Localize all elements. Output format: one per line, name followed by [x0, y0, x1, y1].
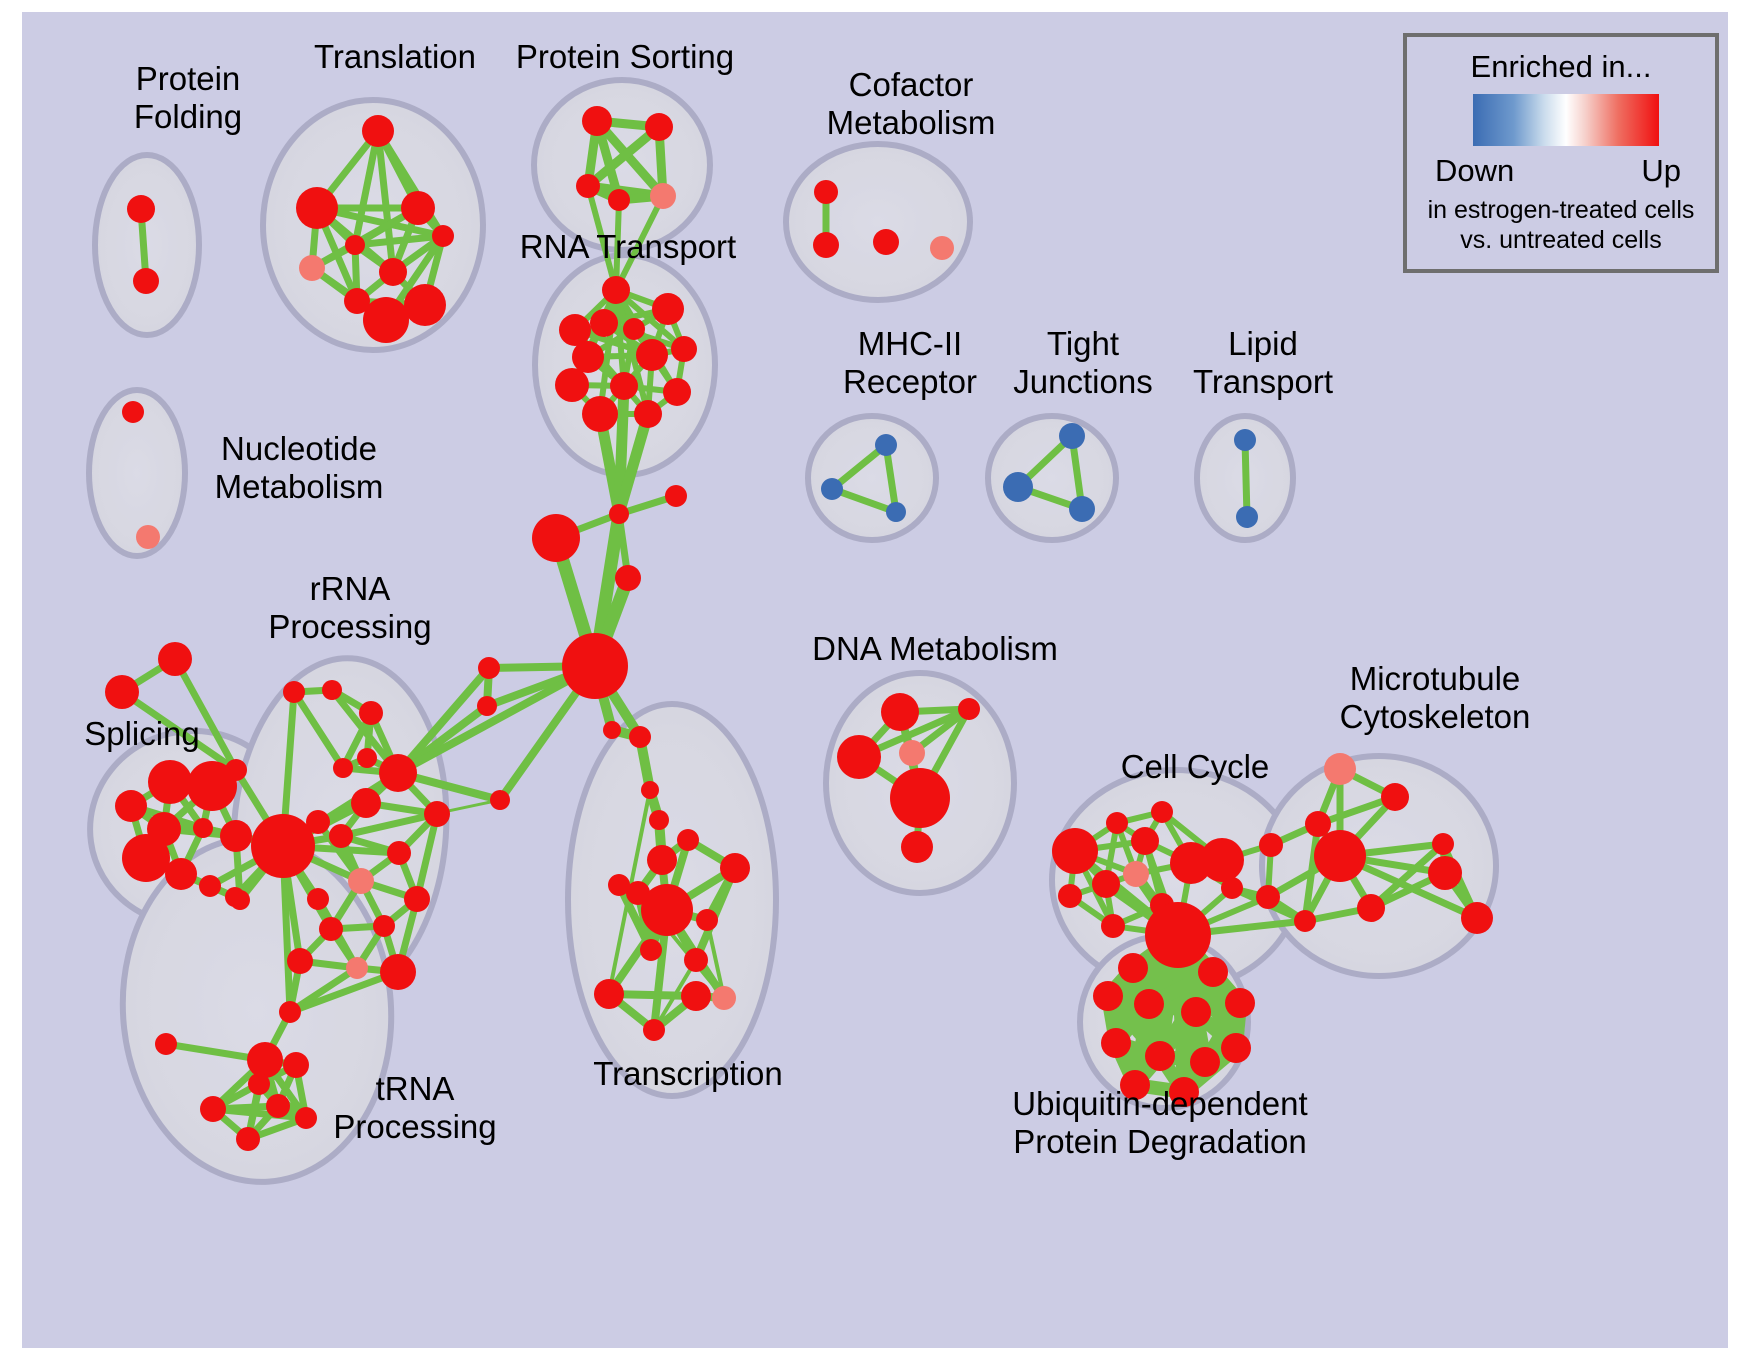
cluster-label-cell-cycle: Cell Cycle — [1090, 748, 1300, 786]
figure-canvas: Protein Folding Translation Protein Sort… — [0, 0, 1750, 1360]
cluster-label-lipid-transport: Lipid Transport — [1158, 325, 1368, 401]
legend-color-gradient-bar — [1473, 94, 1659, 146]
cluster-label-trna-processing: tRNA Processing — [300, 1070, 530, 1146]
legend-subtitle: in estrogen-treated cells vs. untreated … — [1407, 195, 1715, 255]
cluster-label-transcription: Transcription — [568, 1055, 808, 1093]
legend-box: Enriched in... Down Up in estrogen-treat… — [1403, 33, 1719, 273]
cluster-label-splicing: Splicing — [52, 715, 232, 753]
legend-low-label: Down — [1435, 153, 1514, 189]
legend-title: Enriched in... — [1407, 49, 1715, 85]
hull-mhc — [808, 416, 936, 540]
hull-cofactor — [786, 144, 970, 300]
cluster-label-protein-sorting: Protein Sorting — [505, 38, 745, 76]
cluster-label-dna-metabolism: DNA Metabolism — [800, 630, 1070, 668]
cluster-label-rna-transport: RNA Transport — [508, 228, 748, 266]
cluster-label-tight-junctions: Tight Junctions — [978, 325, 1188, 401]
legend-high-label: Up — [1641, 153, 1681, 189]
cluster-label-translation: Translation — [285, 38, 505, 76]
cluster-label-nucleotide-metabolism: Nucleotide Metabolism — [184, 430, 414, 506]
cluster-label-ubiquitin-protein-degradation: Ubiquitin-dependent Protein Degradation — [980, 1085, 1340, 1161]
hull-protein-sorting — [534, 80, 710, 250]
cluster-label-protein-folding: Protein Folding — [78, 60, 298, 136]
cluster-label-rrna-processing: rRNA Processing — [240, 570, 460, 646]
cluster-label-cofactor-metabolism: Cofactor Metabolism — [796, 66, 1026, 142]
cluster-label-microtubule-cytoskeleton: Microtubule Cytoskeleton — [1305, 660, 1565, 736]
